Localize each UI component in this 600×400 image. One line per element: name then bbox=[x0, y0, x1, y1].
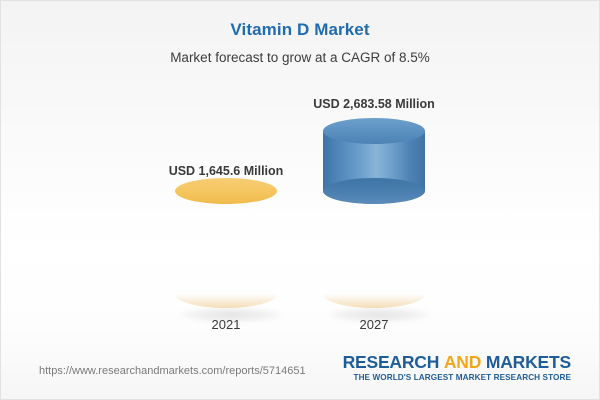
research-and-markets-logo[interactable]: RESEARCH AND MARKETS THE WORLD'S LARGEST… bbox=[343, 353, 571, 382]
axis-label-2027: 2027 bbox=[299, 317, 449, 332]
bar-cap-top-2027 bbox=[323, 118, 425, 144]
logo-tagline: THE WORLD'S LARGEST MARKET RESEARCH STOR… bbox=[343, 373, 571, 382]
logo-word-research: RESEARCH bbox=[343, 352, 440, 372]
bar-segment-growth-cap-bottom-2027 bbox=[323, 178, 425, 204]
source-url[interactable]: https://www.researchandmarkets.com/repor… bbox=[39, 365, 306, 377]
bar-segment-base-2021[interactable] bbox=[175, 191, 277, 307]
logo-word-and: AND bbox=[444, 352, 481, 372]
chart-header: Vitamin D Market Market forecast to grow… bbox=[1, 1, 599, 65]
chart-title: Vitamin D Market bbox=[1, 1, 599, 40]
chart-subtitle: Market forecast to grow at a CAGR of 8.5… bbox=[1, 40, 599, 65]
bar-value-label-2027: USD 2,683.58 Million bbox=[299, 97, 449, 111]
bar-group-2021: USD 1,645.6 Million 2021 bbox=[151, 81, 301, 341]
chart-card: Vitamin D Market Market forecast to grow… bbox=[0, 0, 600, 400]
bar-group-2027: USD 2,683.58 Million 2027 bbox=[299, 81, 449, 341]
bar-segment-base-2027[interactable] bbox=[323, 191, 425, 307]
chart-footer: https://www.researchandmarkets.com/repor… bbox=[1, 339, 599, 399]
chart-plot-area: USD 1,645.6 Million 2021 USD 2,683.58 Mi… bbox=[1, 81, 600, 341]
logo-wordmark: RESEARCH AND MARKETS bbox=[343, 353, 571, 371]
bar-cap-top-2021 bbox=[175, 178, 277, 204]
bar-value-label-2021: USD 1,645.6 Million bbox=[151, 164, 301, 178]
logo-word-markets: MARKETS bbox=[486, 352, 571, 372]
axis-label-2021: 2021 bbox=[151, 317, 301, 332]
